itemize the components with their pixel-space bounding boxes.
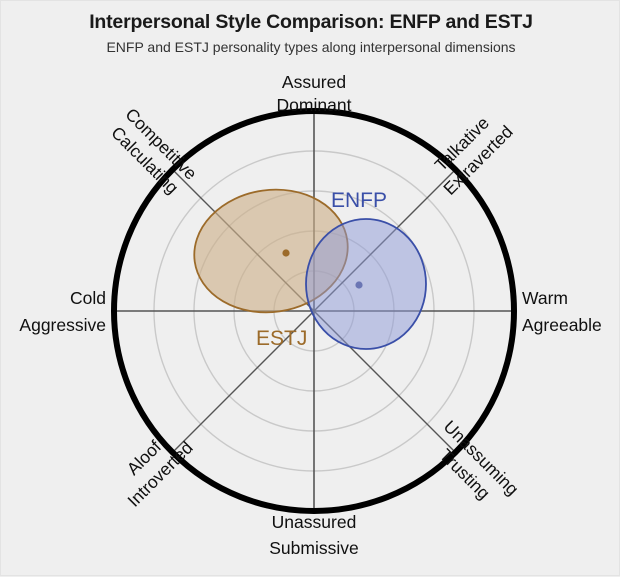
axis-label-line2: Submissive	[269, 538, 358, 558]
estj-data-point[interactable]	[282, 249, 289, 256]
axis-label-line2: Aggressive	[19, 315, 106, 335]
axis-label-line1: Cold	[70, 288, 106, 308]
axis-label-line2: Agreeable	[522, 315, 602, 335]
circumplex-plot: ENFP ESTJ Assured Dominant Talkative Ext…	[1, 1, 620, 577]
axis-label-line1: Unassured	[272, 512, 357, 532]
axis-label-line2: Dominant	[277, 95, 352, 115]
chart-figure: Interpersonal Style Comparison: ENFP and…	[0, 0, 620, 576]
axis-label-competitive-calculating: Competitive Calculating	[105, 104, 201, 200]
enfp-series-label: ENFP	[331, 189, 387, 212]
axis-label-cold-aggressive: Cold Aggressive	[19, 288, 106, 335]
axis-label-unassured-submissive: Unassured Submissive	[269, 512, 358, 558]
axis-label-line1: Warm	[522, 288, 568, 308]
enfp-data-point[interactable]	[355, 281, 362, 288]
axis-label-line1: Assured	[282, 72, 346, 92]
enfp-ellipse[interactable]	[306, 219, 426, 349]
series-enfp[interactable]	[306, 219, 426, 349]
estj-series-label: ESTJ	[256, 327, 307, 350]
axis-label-warm-agreeable: Warm Agreeable	[522, 288, 602, 335]
axis-label-assured-dominant: Assured Dominant	[277, 72, 352, 115]
